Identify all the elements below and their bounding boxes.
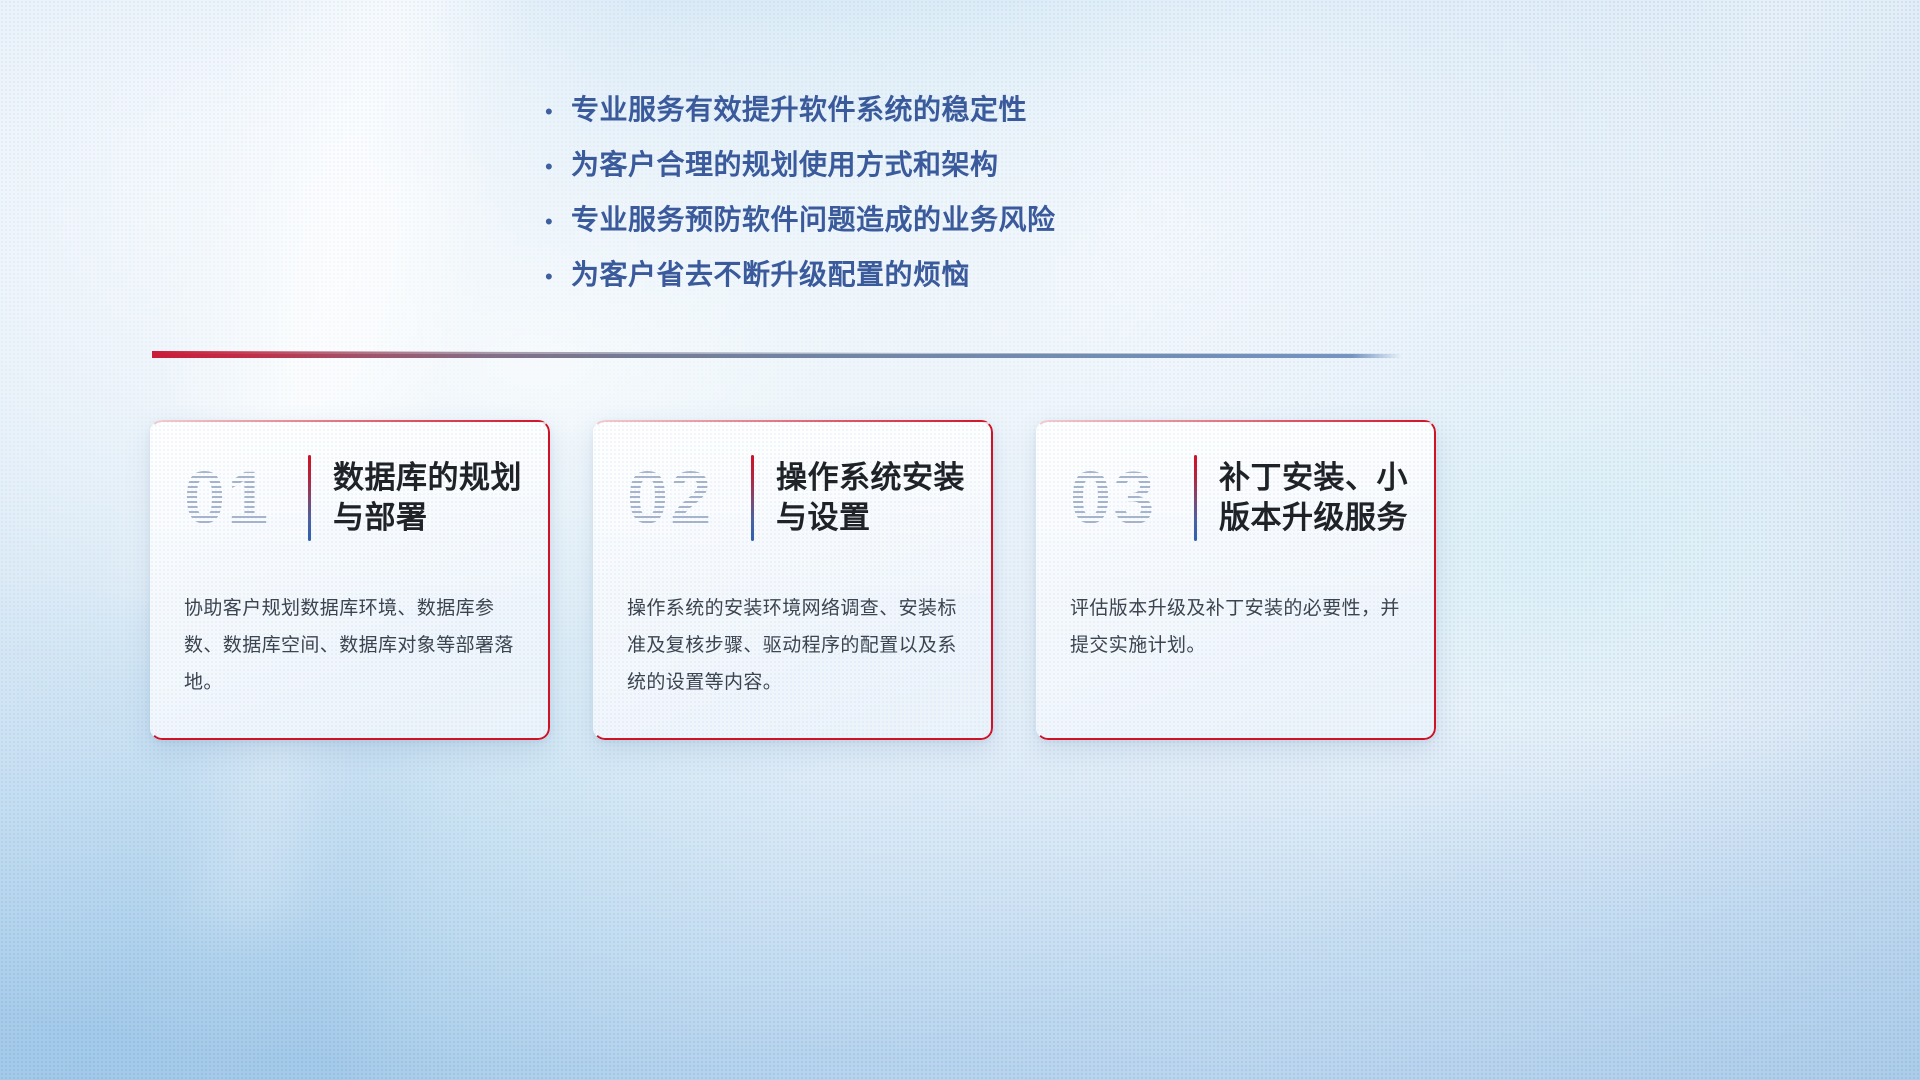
card-number-watermark: 01	[184, 461, 304, 535]
service-card-list: 01 数据库的规划与部署 协助客户规划数据库环境、数据库参数、数据库空间、数据库…	[150, 420, 1436, 740]
card-number-watermark: 03	[1070, 461, 1190, 535]
card-header: 01 数据库的规划与部署	[150, 420, 550, 538]
card-divider-bar	[308, 455, 311, 541]
bullet-item: • 专业服务预防软件问题造成的业务风险	[545, 202, 1165, 237]
bullet-dot-icon: •	[545, 101, 571, 123]
service-card[interactable]: 02 操作系统安装与设置 操作系统的安装环境网络调查、安装标准及复核步骤、驱动程…	[593, 420, 993, 740]
card-title: 操作系统安装与设置	[776, 458, 993, 537]
section-divider	[152, 348, 1402, 362]
card-description: 操作系统的安装环境网络调查、安装标准及复核步骤、驱动程序的配置以及系统的设置等内…	[593, 538, 993, 701]
card-title: 数据库的规划与部署	[333, 458, 550, 537]
card-divider-bar	[1194, 455, 1197, 541]
bullet-text: 专业服务有效提升软件系统的稳定性	[571, 92, 1027, 127]
card-description: 评估版本升级及补丁安装的必要性，并提交实施计划。	[1036, 538, 1436, 664]
card-divider-bar	[751, 455, 754, 541]
bullet-item: • 为客户省去不断升级配置的烦恼	[545, 257, 1165, 292]
bullet-dot-icon: •	[545, 211, 571, 233]
bullet-dot-icon: •	[545, 156, 571, 178]
divider-sheen	[152, 351, 1402, 354]
bullet-item: • 专业服务有效提升软件系统的稳定性	[545, 92, 1165, 127]
benefits-bullet-list: • 专业服务有效提升软件系统的稳定性 • 为客户合理的规划使用方式和架构 • 专…	[545, 92, 1165, 312]
bullet-text: 为客户合理的规划使用方式和架构	[571, 147, 999, 182]
card-title: 补丁安装、小版本升级服务	[1219, 458, 1436, 537]
service-card[interactable]: 01 数据库的规划与部署 协助客户规划数据库环境、数据库参数、数据库空间、数据库…	[150, 420, 550, 740]
bullet-text: 专业服务预防软件问题造成的业务风险	[571, 202, 1056, 237]
bullet-dot-icon: •	[545, 266, 571, 288]
card-number-watermark: 02	[627, 461, 747, 535]
card-header: 03 补丁安装、小版本升级服务	[1036, 420, 1436, 538]
service-card[interactable]: 03 补丁安装、小版本升级服务 评估版本升级及补丁安装的必要性，并提交实施计划。	[1036, 420, 1436, 740]
card-description: 协助客户规划数据库环境、数据库参数、数据库空间、数据库对象等部署落地。	[150, 538, 550, 701]
bullet-item: • 为客户合理的规划使用方式和架构	[545, 147, 1165, 182]
bullet-text: 为客户省去不断升级配置的烦恼	[571, 257, 970, 292]
card-header: 02 操作系统安装与设置	[593, 420, 993, 538]
